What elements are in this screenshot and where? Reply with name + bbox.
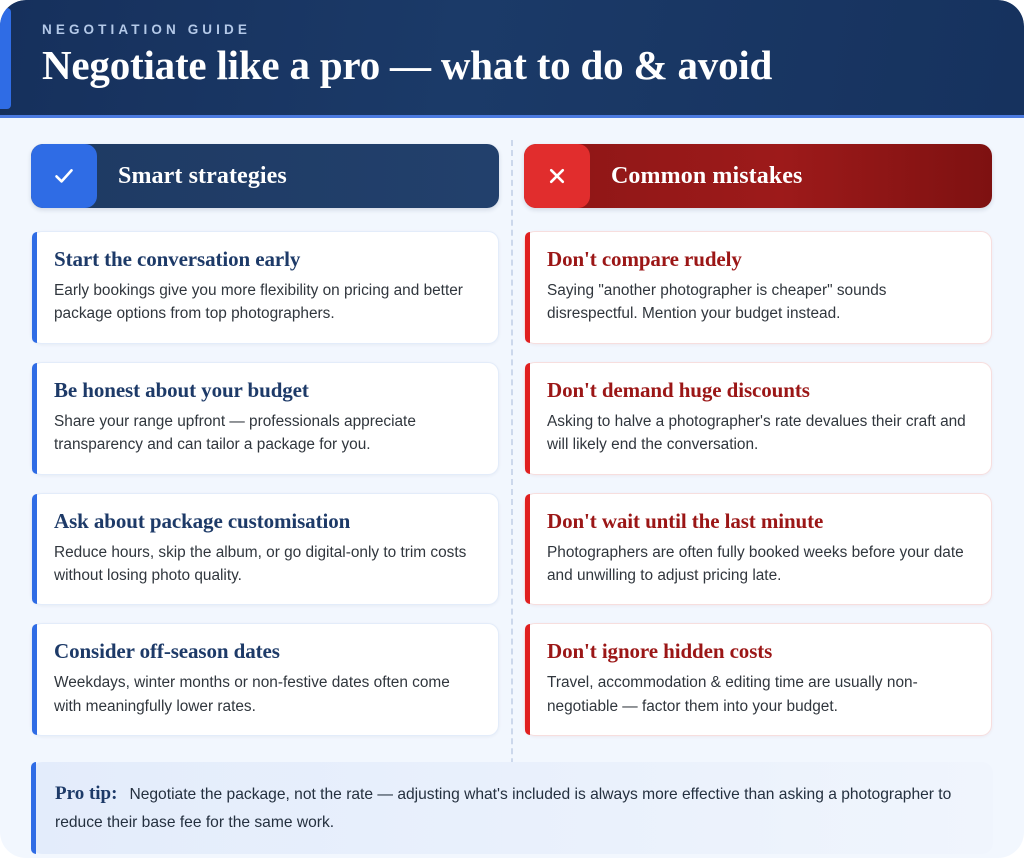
card-accent-bar	[525, 232, 530, 343]
card-accent-bar	[525, 494, 530, 605]
page-title: Negotiate like a pro — what to do & avoi…	[42, 43, 984, 89]
page-header: NEGOTIATION GUIDE Negotiate like a pro —…	[0, 0, 1024, 118]
pro-tip-text: Pro tip:Negotiate the package, not the r…	[55, 779, 971, 835]
card-body: Saying "another photographer is cheaper"…	[547, 279, 973, 326]
card-accent-bar	[32, 232, 37, 343]
card-accent-bar	[32, 624, 37, 735]
card-accent-bar	[32, 494, 37, 605]
column-common-mistakes: Common mistakes Don't compare rudely Say…	[524, 144, 992, 754]
card-body: Asking to halve a photographer's rate de…	[547, 410, 973, 457]
card-body: Weekdays, winter months or non-festive d…	[54, 671, 480, 718]
infographic-page: NEGOTIATION GUIDE Negotiate like a pro —…	[0, 0, 1024, 858]
card-title: Don't demand huge discounts	[547, 378, 973, 403]
column-header-common-mistakes: Common mistakes	[524, 144, 992, 208]
strategy-card: Start the conversation early Early booki…	[31, 231, 499, 344]
card-body: Early bookings give you more flexibility…	[54, 279, 480, 326]
card-title: Ask about package customisation	[54, 509, 480, 534]
column-header-smart-strategies: Smart strategies	[31, 144, 499, 208]
card-title: Don't ignore hidden costs	[547, 639, 973, 664]
card-accent-bar	[32, 363, 37, 474]
comparison-board: Smart strategies Start the conversation …	[0, 118, 1024, 754]
card-accent-bar	[525, 624, 530, 735]
mistake-card: Don't ignore hidden costs Travel, accomm…	[524, 623, 992, 736]
cross-icon	[524, 144, 590, 208]
pro-tip-label: Pro tip:	[55, 783, 117, 804]
pro-tip-body: Negotiate the package, not the rate — ad…	[55, 786, 951, 831]
card-body: Reduce hours, skip the album, or go digi…	[54, 541, 480, 588]
card-title: Consider off-season dates	[54, 639, 480, 664]
mistake-card: Don't compare rudely Saying "another pho…	[524, 231, 992, 344]
card-title: Don't wait until the last minute	[547, 509, 973, 534]
strategy-card: Ask about package customisation Reduce h…	[31, 493, 499, 606]
header-accent-bar	[0, 8, 11, 109]
mistake-card: Don't demand huge discounts Asking to ha…	[524, 362, 992, 475]
column-header-label: Common mistakes	[590, 144, 803, 208]
card-body: Photographers are often fully booked wee…	[547, 541, 973, 588]
card-title: Be honest about your budget	[54, 378, 480, 403]
eyebrow-label: NEGOTIATION GUIDE	[42, 22, 984, 37]
card-body: Share your range upfront — professionals…	[54, 410, 480, 457]
pro-tip-accent-bar	[31, 762, 36, 854]
strategy-card: Consider off-season dates Weekdays, wint…	[31, 623, 499, 736]
card-title: Don't compare rudely	[547, 247, 973, 272]
mistake-card: Don't wait until the last minute Photogr…	[524, 493, 992, 606]
column-smart-strategies: Smart strategies Start the conversation …	[31, 144, 499, 754]
columns-wrapper: Smart strategies Start the conversation …	[31, 144, 993, 754]
card-accent-bar	[525, 363, 530, 474]
check-icon	[31, 144, 97, 208]
card-body: Travel, accommodation & editing time are…	[547, 671, 973, 718]
pro-tip-banner: Pro tip:Negotiate the package, not the r…	[31, 762, 993, 854]
strategy-card: Be honest about your budget Share your r…	[31, 362, 499, 475]
card-title: Start the conversation early	[54, 247, 480, 272]
column-header-label: Smart strategies	[97, 144, 287, 208]
